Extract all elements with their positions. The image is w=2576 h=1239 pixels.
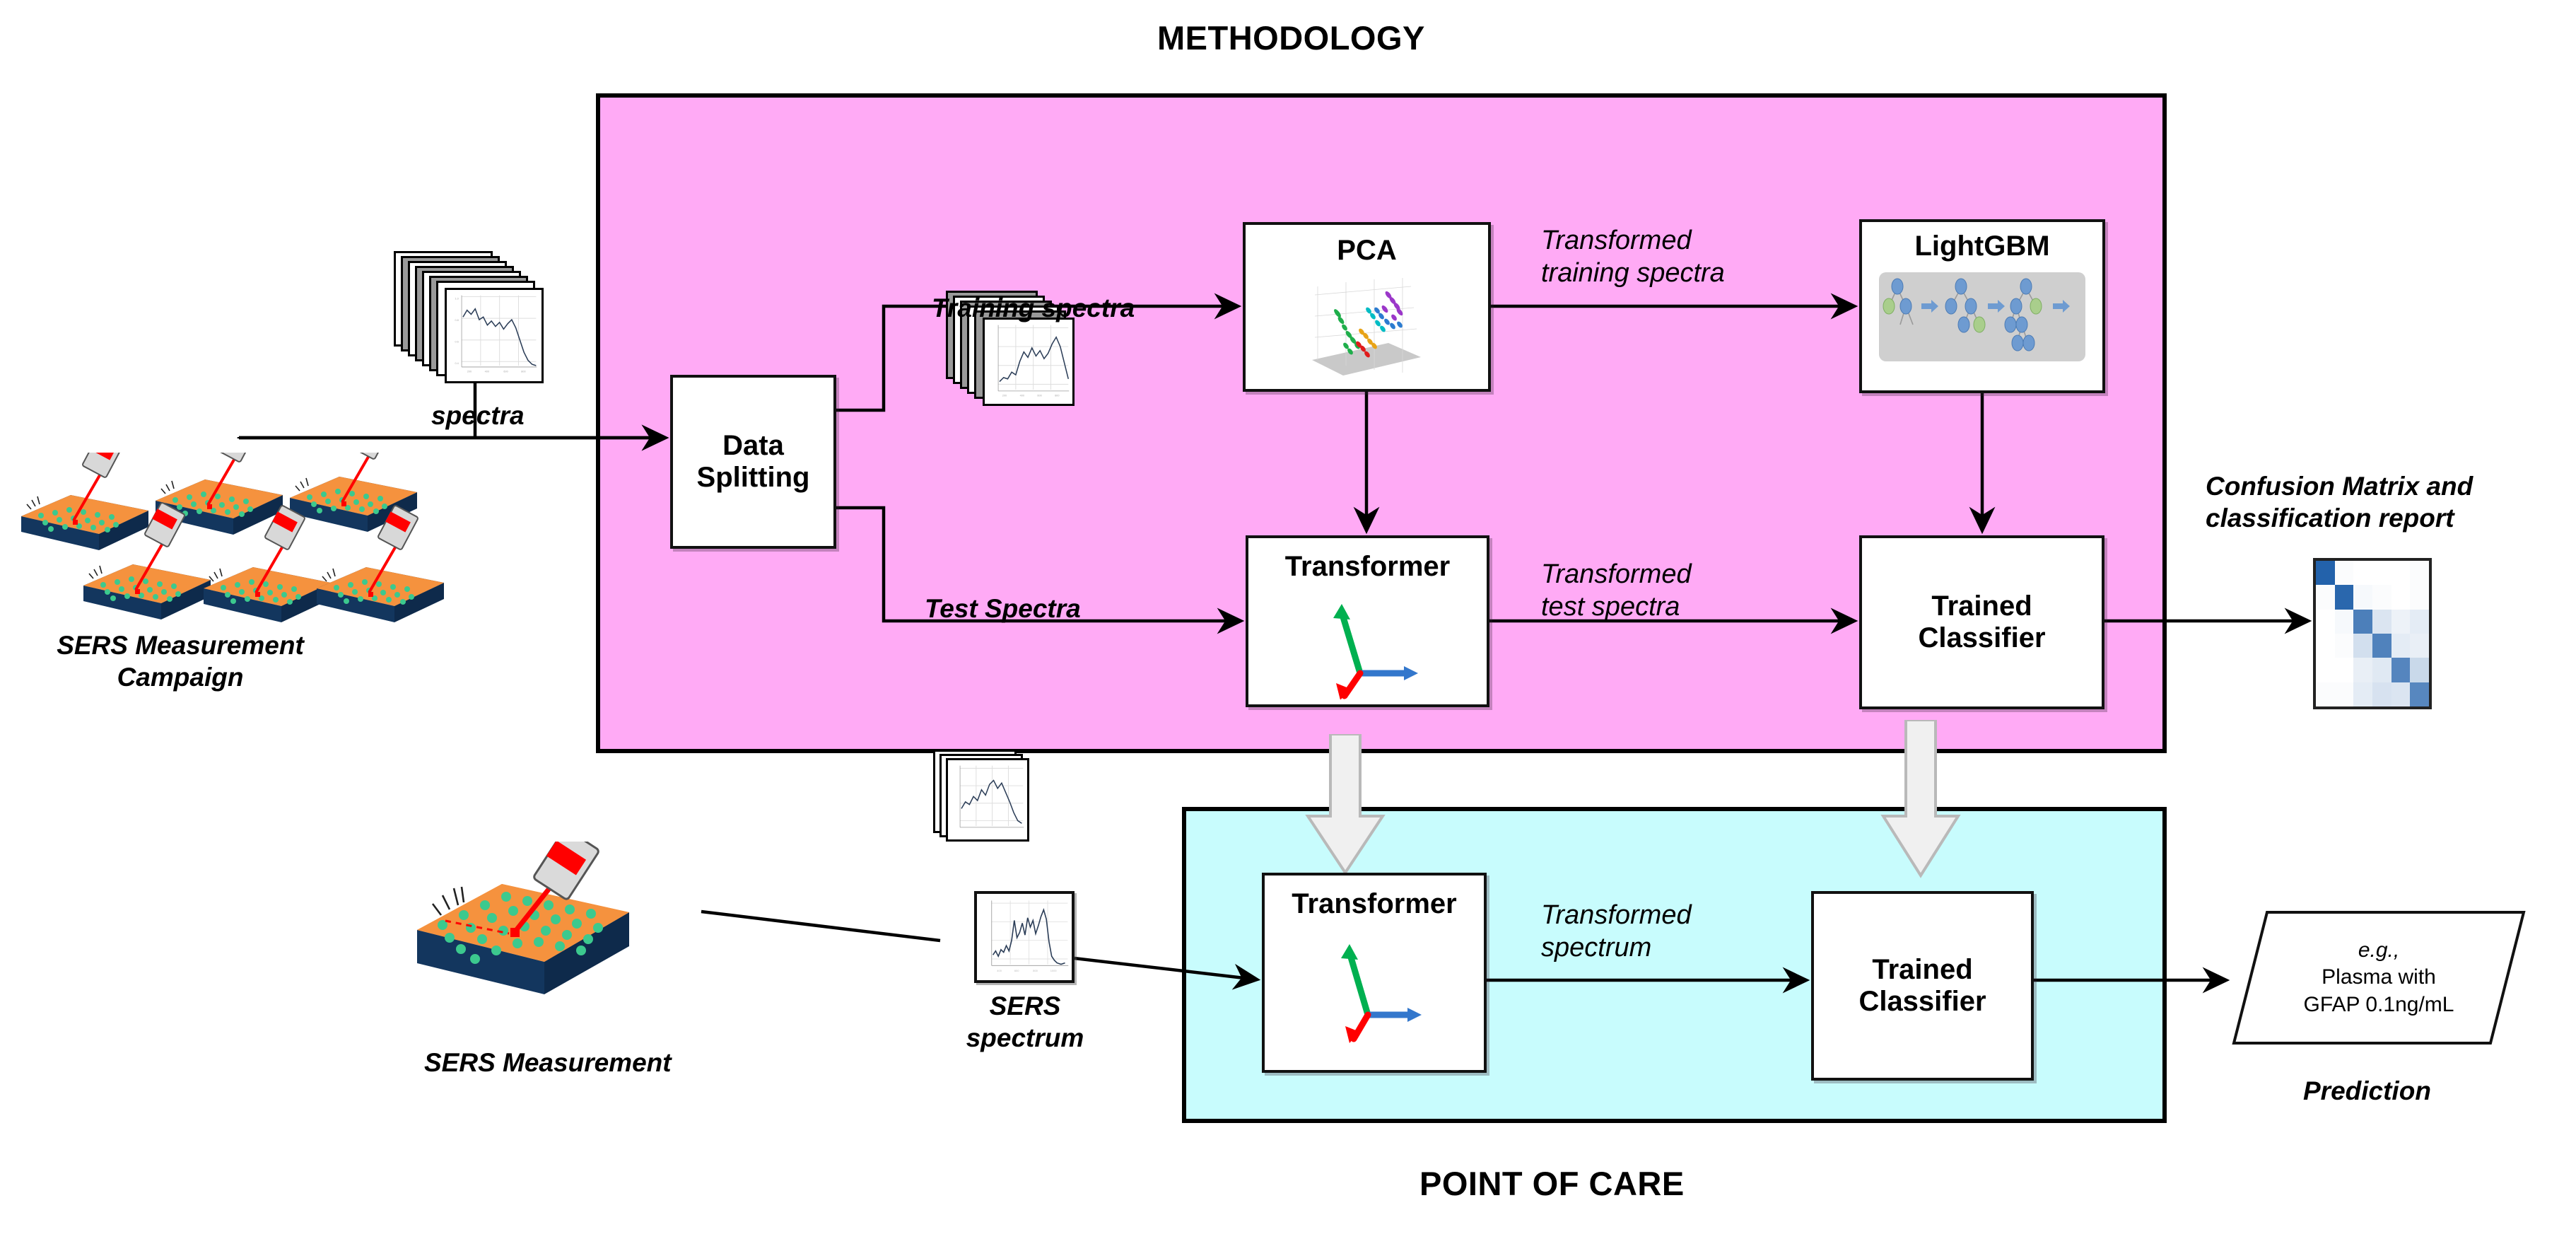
confusion-matrix-cell bbox=[2410, 610, 2429, 634]
training-spectra-label: Training spectra bbox=[932, 292, 1135, 324]
trained-classifier-poc-line1: Trained bbox=[1872, 954, 1972, 985]
svg-text:400: 400 bbox=[485, 371, 489, 373]
confusion-matrix-cell bbox=[2391, 634, 2411, 658]
pca-label: PCA bbox=[1337, 235, 1396, 267]
confusion-matrix-cell bbox=[2410, 658, 2429, 682]
confusion-matrix-cell bbox=[2410, 682, 2429, 706]
transformer-label: Transformer bbox=[1285, 551, 1450, 583]
transfer-arrow-transformer bbox=[1299, 734, 1391, 876]
confusion-matrix-cell bbox=[2335, 610, 2354, 634]
test-spectra-stack bbox=[933, 750, 1060, 870]
pca-box[interactable]: PCA bbox=[1243, 222, 1491, 392]
confusion-matrix-cell bbox=[2335, 634, 2354, 658]
transformed-test-spectra-label: Transformed test spectra bbox=[1541, 559, 1692, 623]
axes-triad-icon bbox=[1287, 583, 1449, 699]
confusion-matrix-cell bbox=[2391, 585, 2411, 609]
spectra-stack: 200400 600800 1.00.8 0.60.4 bbox=[394, 251, 563, 396]
trained-classifier-box-methodology[interactable]: Trained Classifier bbox=[1859, 535, 2104, 709]
confusion-matrix-cell bbox=[2372, 682, 2391, 706]
lightgbm-box[interactable]: LightGBM bbox=[1859, 219, 2105, 393]
confusion-matrix-cell bbox=[2353, 634, 2372, 658]
transformed-training-spectra-label: Transformed training spectra bbox=[1541, 225, 1725, 289]
confusion-matrix bbox=[2313, 558, 2432, 709]
trained-classifier-poc-line2: Classifier bbox=[1858, 986, 1986, 1017]
svg-text:600: 600 bbox=[1014, 969, 1019, 972]
confusion-matrix-cell bbox=[2335, 658, 2354, 682]
confusion-matrix-row bbox=[2316, 561, 2429, 585]
confusion-matrix-cell bbox=[2410, 585, 2429, 609]
methodology-title: METHODOLOGY bbox=[1157, 18, 1425, 57]
prediction-shape: e.g., Plasma with GFAP 0.1ng/mL bbox=[2230, 909, 2527, 1047]
svg-text:600: 600 bbox=[503, 371, 508, 373]
prediction-eg: e.g., bbox=[2358, 937, 2399, 964]
svg-text:200: 200 bbox=[1002, 395, 1007, 397]
confusion-matrix-cell bbox=[2391, 610, 2411, 634]
svg-text:0.4: 0.4 bbox=[455, 362, 459, 365]
confusion-matrix-row bbox=[2316, 634, 2429, 658]
confusion-matrix-row bbox=[2316, 658, 2429, 682]
lightgbm-label: LightGBM bbox=[1914, 231, 2049, 262]
svg-text:600: 600 bbox=[1037, 395, 1041, 397]
svg-text:400: 400 bbox=[1020, 395, 1024, 397]
svg-text:200: 200 bbox=[467, 371, 472, 373]
data-splitting-line1: Data bbox=[722, 430, 784, 461]
transfer-arrow-classifier bbox=[1875, 720, 1967, 878]
svg-text:800: 800 bbox=[1055, 395, 1059, 397]
confusion-matrix-cell bbox=[2353, 561, 2372, 585]
confusion-matrix-cell bbox=[2335, 682, 2354, 706]
confusion-matrix-cell bbox=[2372, 610, 2391, 634]
transformed-spectrum-label: Transformed spectrum bbox=[1541, 900, 1692, 964]
svg-text:0.8: 0.8 bbox=[455, 319, 458, 322]
confusion-matrix-cell bbox=[2391, 561, 2411, 585]
sers-measurement-illustration bbox=[403, 842, 707, 1054]
axes-triad-icon-poc bbox=[1300, 920, 1448, 1044]
sers-campaign-caption: SERS Measurement Campaign bbox=[14, 629, 346, 693]
data-splitting-line2: Splitting bbox=[697, 462, 810, 493]
confusion-matrix-cell bbox=[2316, 682, 2335, 706]
svg-text:400: 400 bbox=[997, 969, 1002, 972]
trained-classifier-box-poc[interactable]: Trained Classifier bbox=[1811, 891, 2034, 1081]
confusion-matrix-cell bbox=[2316, 634, 2335, 658]
confusion-matrix-cell bbox=[2335, 585, 2354, 609]
confusion-matrix-cell bbox=[2316, 585, 2335, 609]
confusion-matrix-row bbox=[2316, 610, 2429, 634]
gbm-trees-icon bbox=[1876, 269, 2088, 365]
confusion-matrix-row bbox=[2316, 585, 2429, 609]
trained-classifier-line2: Classifier bbox=[1918, 622, 2045, 653]
confusion-caption-line2: classification report bbox=[2206, 502, 2473, 534]
sers-campaign-caption-line2: Campaign bbox=[14, 661, 346, 693]
svg-text:800: 800 bbox=[1033, 969, 1038, 972]
confusion-matrix-cell bbox=[2372, 634, 2391, 658]
transformed-training-line1: Transformed bbox=[1541, 225, 1725, 257]
test-spectra-label: Test Spectra bbox=[925, 593, 1081, 624]
sers-spectrum-thumbnail: 400600 8001000 bbox=[974, 891, 1075, 983]
confusion-matrix-table bbox=[2316, 561, 2429, 706]
transformed-spectrum-line2: spectrum bbox=[1541, 932, 1692, 965]
confusion-matrix-cell bbox=[2316, 610, 2335, 634]
confusion-matrix-cell bbox=[2391, 682, 2411, 706]
confusion-matrix-cell bbox=[2353, 610, 2372, 634]
sers-spectrum-line1: SERS bbox=[940, 990, 1110, 1022]
confusion-matrix-cell bbox=[2353, 658, 2372, 682]
pca-scatter-icon bbox=[1275, 267, 1459, 383]
transformed-training-line2: training spectra bbox=[1541, 257, 1725, 290]
trained-classifier-line1: Trained bbox=[1931, 591, 2032, 622]
confusion-caption-line1: Confusion Matrix and bbox=[2206, 470, 2473, 502]
confusion-matrix-caption: Confusion Matrix and classification repo… bbox=[2206, 470, 2473, 534]
confusion-matrix-cell bbox=[2372, 658, 2391, 682]
confusion-matrix-cell bbox=[2316, 561, 2335, 585]
prediction-line2: GFAP 0.1ng/mL bbox=[2304, 991, 2454, 1018]
svg-text:1.0: 1.0 bbox=[455, 297, 458, 300]
point-of-care-title: POINT OF CARE bbox=[1419, 1164, 1685, 1203]
sers-spectrum-line2: spectrum bbox=[940, 1022, 1110, 1054]
transformer-box-methodology[interactable]: Transformer bbox=[1246, 535, 1489, 707]
data-splitting-box[interactable]: Data Splitting bbox=[670, 375, 836, 549]
svg-text:0.6: 0.6 bbox=[455, 341, 458, 344]
prediction-caption: Prediction bbox=[2303, 1075, 2431, 1107]
svg-text:800: 800 bbox=[521, 371, 525, 373]
transformer-box-poc[interactable]: Transformer bbox=[1262, 873, 1487, 1073]
sers-spectrum-caption: SERS spectrum bbox=[940, 990, 1110, 1054]
confusion-matrix-cell bbox=[2391, 658, 2411, 682]
confusion-matrix-cell bbox=[2316, 658, 2335, 682]
svg-text:1000: 1000 bbox=[1050, 969, 1058, 972]
transformed-spectrum-line1: Transformed bbox=[1541, 900, 1692, 932]
transformer-label-poc: Transformer bbox=[1292, 888, 1456, 920]
confusion-matrix-cell bbox=[2372, 561, 2391, 585]
confusion-matrix-row bbox=[2316, 682, 2429, 706]
confusion-matrix-cell bbox=[2353, 682, 2372, 706]
confusion-matrix-cell bbox=[2335, 561, 2354, 585]
confusion-matrix-cell bbox=[2410, 561, 2429, 585]
sers-measurement-caption: SERS Measurement bbox=[424, 1047, 672, 1078]
prediction-line1: Plasma with bbox=[2322, 964, 2436, 991]
transformed-test-line1: Transformed bbox=[1541, 559, 1692, 591]
confusion-matrix-cell bbox=[2372, 585, 2391, 609]
confusion-matrix-cell bbox=[2353, 585, 2372, 609]
sers-campaign-caption-line1: SERS Measurement bbox=[14, 629, 346, 661]
confusion-matrix-cell bbox=[2410, 634, 2429, 658]
spectra-label: spectra bbox=[431, 400, 525, 431]
transformed-test-line2: test spectra bbox=[1541, 591, 1692, 624]
